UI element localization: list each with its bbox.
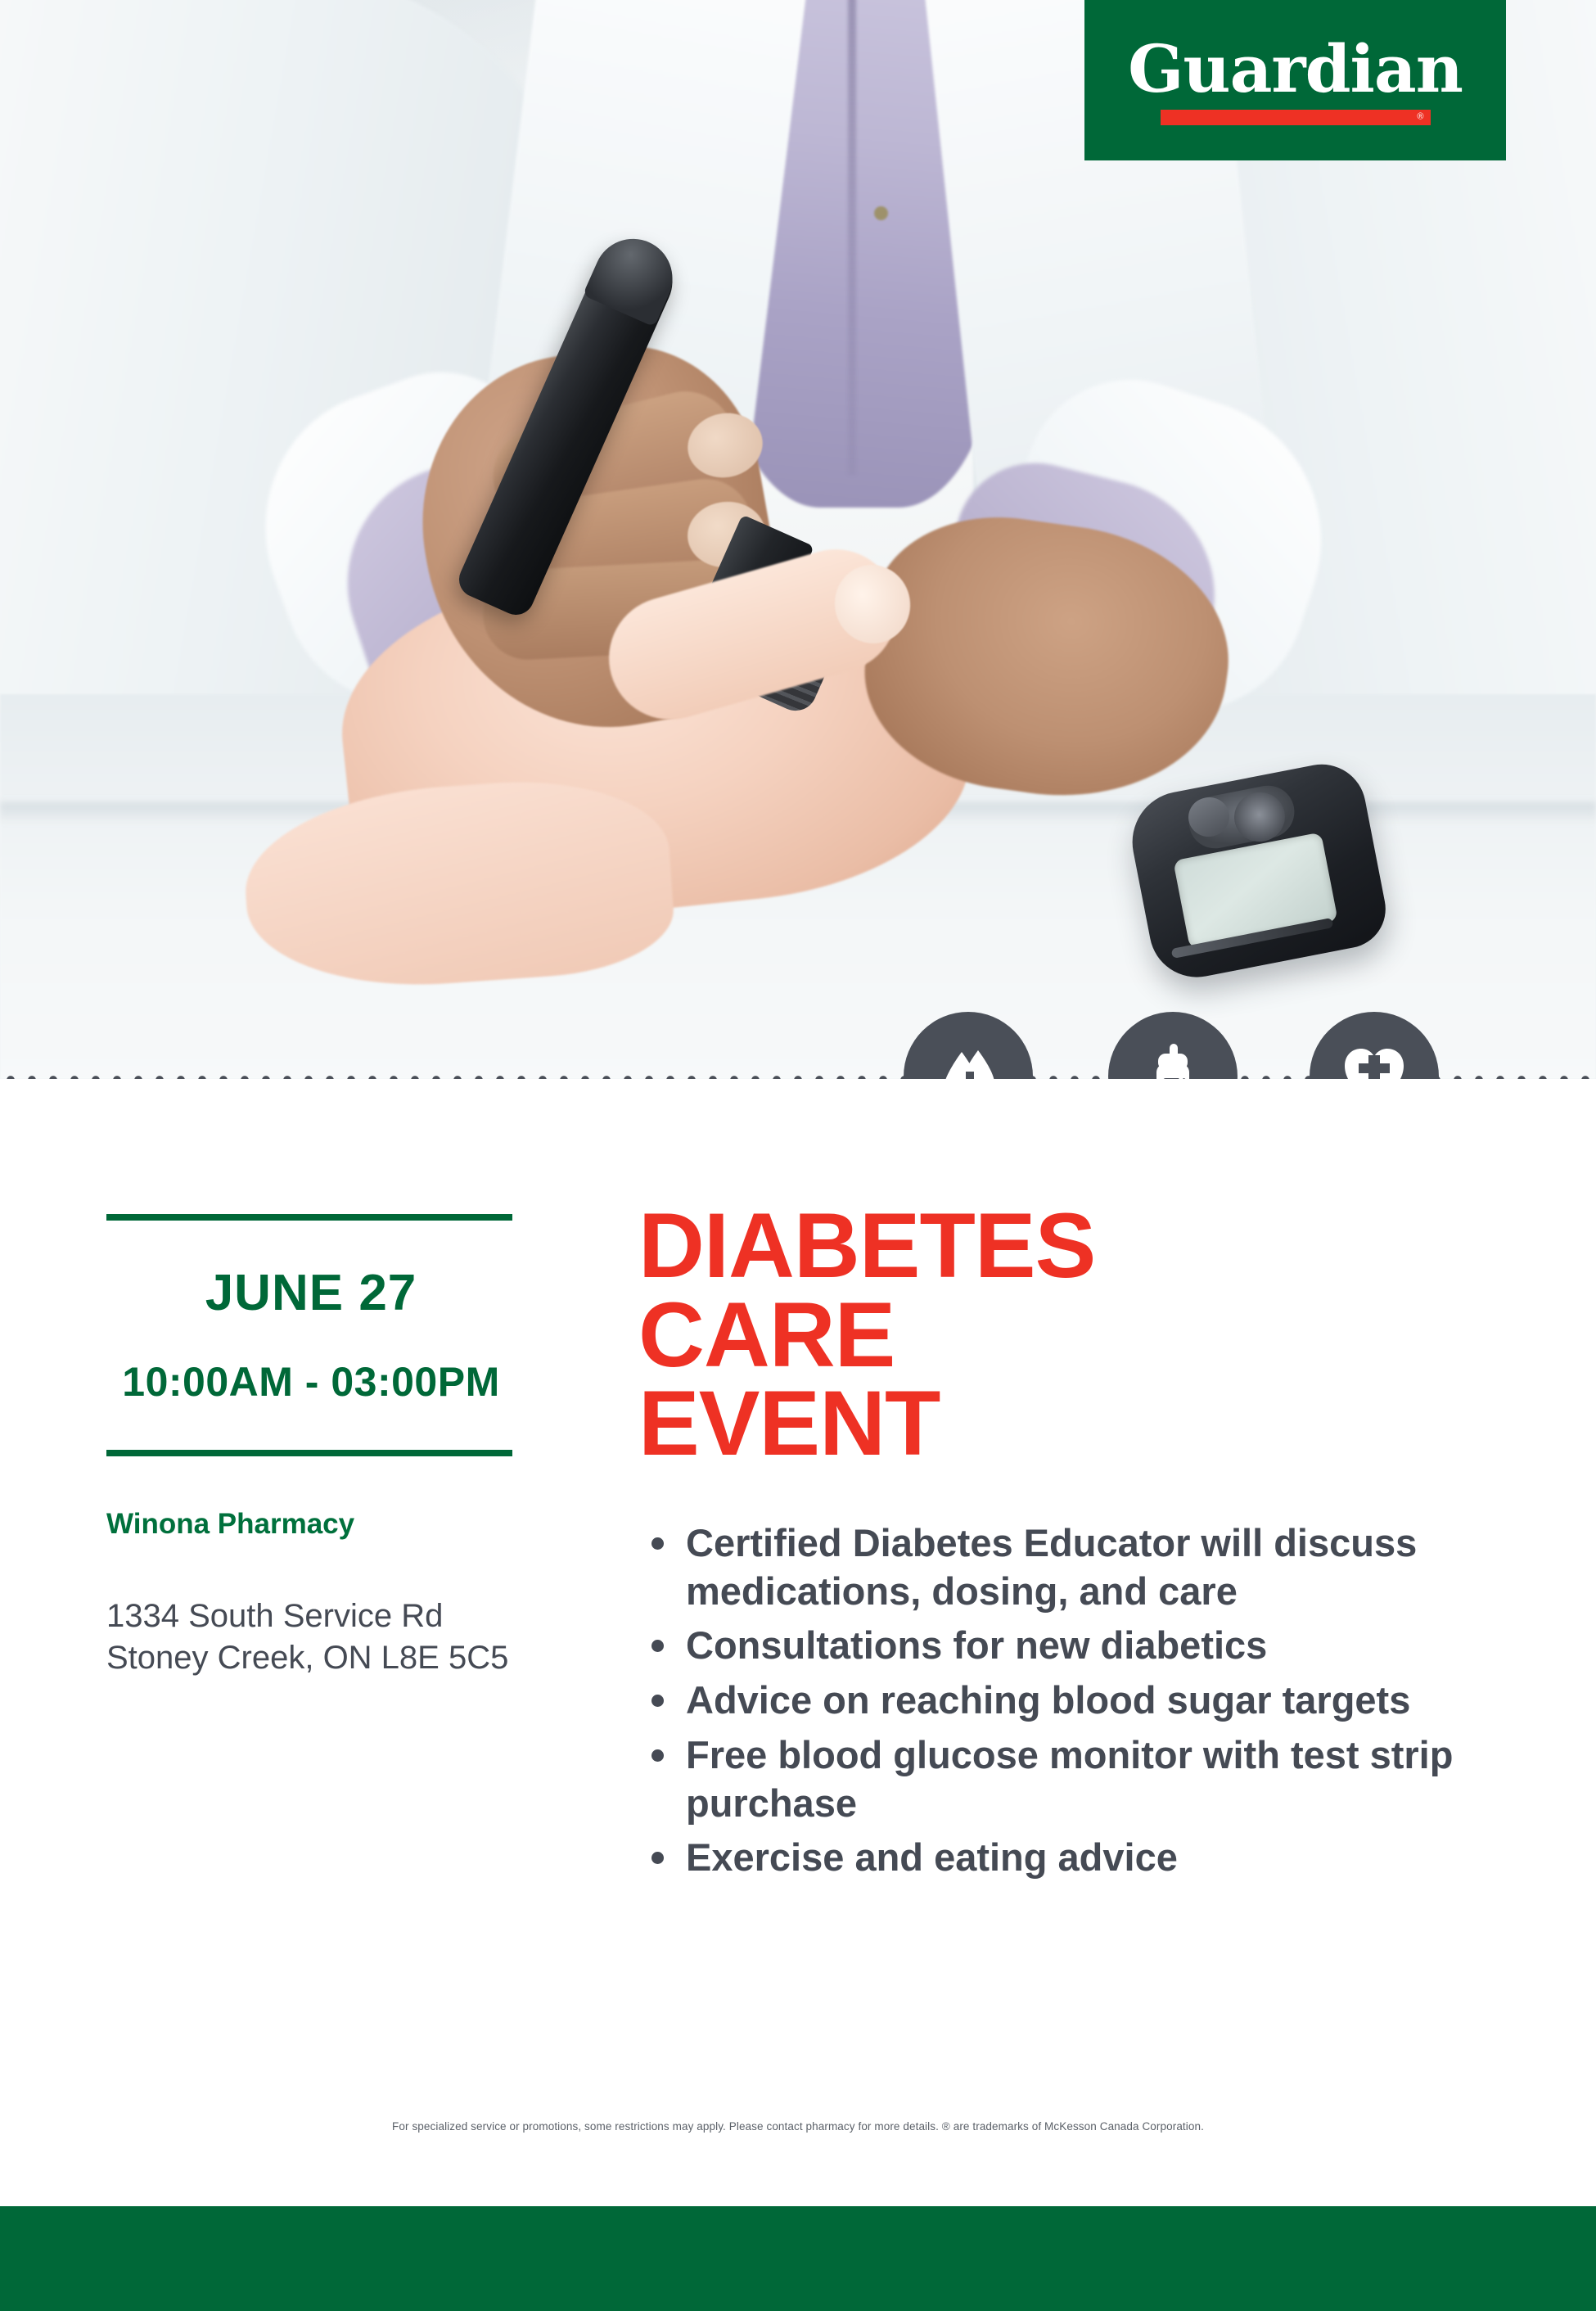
hero-photo [0, 0, 1596, 1079]
services-list: Certified Diabetes Educator will discuss… [638, 1519, 1506, 1882]
event-date: JUNE 27 [106, 1268, 516, 1319]
bottom-rule [106, 1450, 512, 1456]
guardian-wordmark: Guardian [1128, 36, 1463, 105]
list-item: Certified Diabetes Educator will discuss… [638, 1519, 1506, 1616]
list-item: Exercise and eating advice [638, 1834, 1506, 1882]
legal-disclaimer: For specialized service or promotions, s… [0, 2120, 1596, 2133]
pharmacy-address: 1334 South Service Rd Stoney Creek, ON L… [106, 1596, 516, 1679]
headline-column: DIABETES CARE EVENT Certified Diabetes E… [638, 1202, 1506, 1889]
page-title: DIABETES CARE EVENT [638, 1202, 1506, 1469]
footer-bar [0, 2206, 1596, 2311]
title-line-1: DIABETES [638, 1202, 1506, 1291]
top-rule [106, 1214, 512, 1221]
address-line-1: 1334 South Service Rd [106, 1596, 516, 1637]
guardian-red-bar: ® [1161, 110, 1431, 125]
content-area: JUNE 27 10:00AM - 03:00PM Winona Pharmac… [0, 1079, 1596, 2206]
list-item: Free blood glucose monitor with test str… [638, 1731, 1506, 1828]
registered-trademark-icon: ® [1417, 113, 1423, 122]
poster-canvas: Guardian ® J [0, 0, 1596, 2311]
list-item: Consultations for new diabetics [638, 1622, 1506, 1670]
list-item: Advice on reaching blood sugar targets [638, 1677, 1506, 1725]
guardian-logo[interactable]: Guardian ® [1084, 0, 1506, 160]
title-line-2: CARE [638, 1291, 1506, 1380]
shirt-button [874, 206, 888, 220]
shirt-placket [848, 0, 856, 475]
pharmacy-name: Winona Pharmacy [106, 1507, 516, 1541]
event-time: 10:00AM - 03:00PM [106, 1361, 516, 1402]
address-line-2: Stoney Creek, ON L8E 5C5 [106, 1637, 516, 1679]
title-line-3: EVENT [638, 1379, 1506, 1469]
event-details-column: JUNE 27 10:00AM - 03:00PM Winona Pharmac… [106, 1214, 516, 1679]
